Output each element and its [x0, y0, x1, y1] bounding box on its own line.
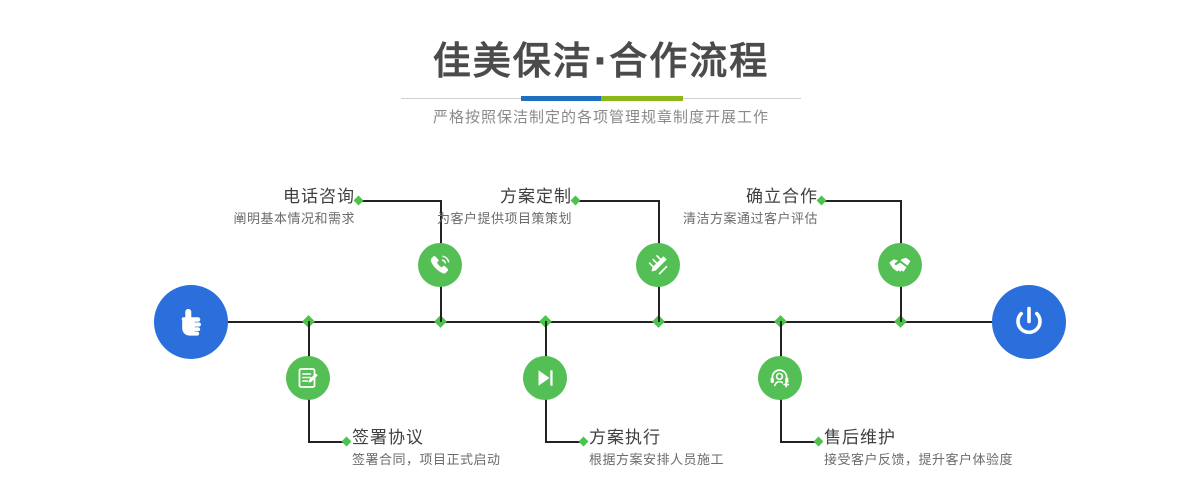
handshake-icon — [887, 252, 913, 278]
step-title: 方案定制 — [330, 186, 572, 208]
timeline-start-node — [154, 285, 228, 359]
step-label: 售后维护 接受客户反馈，提升客户体验度 — [824, 427, 1013, 471]
step-icon-circle[interactable] — [878, 243, 922, 287]
step-icon-circle[interactable] — [523, 356, 567, 400]
page-title: 佳美保洁·合作流程 — [0, 38, 1202, 84]
step-title: 签署协议 — [352, 427, 501, 449]
step-icon-circle[interactable] — [636, 243, 680, 287]
step-desc: 根据方案安排人员施工 — [589, 451, 724, 471]
step-label: 签署协议 签署合同，项目正式启动 — [352, 427, 501, 471]
divider-segment-blue — [521, 96, 601, 101]
step-icon-circle[interactable] — [758, 356, 802, 400]
step-icon-circle[interactable] — [286, 356, 330, 400]
step-title: 电话咨询 — [110, 186, 355, 208]
step-icon-circle[interactable] — [418, 243, 462, 287]
step-desc: 清洁方案通过客户评估 — [580, 210, 818, 230]
play-skip-icon — [532, 365, 558, 391]
page-subtitle: 严格按照保洁制定的各项管理规章制度开展工作 — [0, 106, 1202, 127]
step-connector-horizontal — [545, 441, 582, 443]
pencil-design-icon — [645, 252, 671, 278]
step-label-marker — [579, 437, 589, 447]
step-label: 电话咨询 阐明基本情况和需求 — [110, 186, 355, 230]
step-label-marker — [342, 437, 352, 447]
step-title: 方案执行 — [589, 427, 724, 449]
step-label-marker — [817, 196, 827, 206]
pointing-hand-icon — [171, 302, 211, 342]
step-label: 确立合作 清洁方案通过客户评估 — [580, 186, 818, 230]
step-label-marker — [814, 437, 824, 447]
step-connector-horizontal — [780, 441, 817, 443]
title-divider — [401, 96, 801, 102]
headset-support-icon — [767, 365, 793, 391]
step-desc: 阐明基本情况和需求 — [110, 210, 355, 230]
step-connector-horizontal — [823, 200, 901, 202]
step-title: 确立合作 — [580, 186, 818, 208]
step-desc: 签署合同，项目正式启动 — [352, 451, 501, 471]
flow-diagram-page: 佳美保洁·合作流程 严格按照保洁制定的各项管理规章制度开展工作 — [0, 0, 1202, 502]
step-connector-horizontal — [308, 441, 345, 443]
step-label: 方案定制 为客户提供项目策策划 — [330, 186, 572, 230]
step-label: 方案执行 根据方案安排人员施工 — [589, 427, 724, 471]
power-icon — [1008, 301, 1050, 343]
step-title: 售后维护 — [824, 427, 1013, 449]
step-desc: 接受客户反馈，提升客户体验度 — [824, 451, 1013, 471]
document-pen-icon — [295, 365, 321, 391]
step-label-marker — [571, 196, 581, 206]
step-desc: 为客户提供项目策策划 — [330, 210, 572, 230]
divider-segment-green — [601, 96, 683, 101]
timeline-end-node — [992, 285, 1066, 359]
phone-ring-icon — [427, 252, 453, 278]
